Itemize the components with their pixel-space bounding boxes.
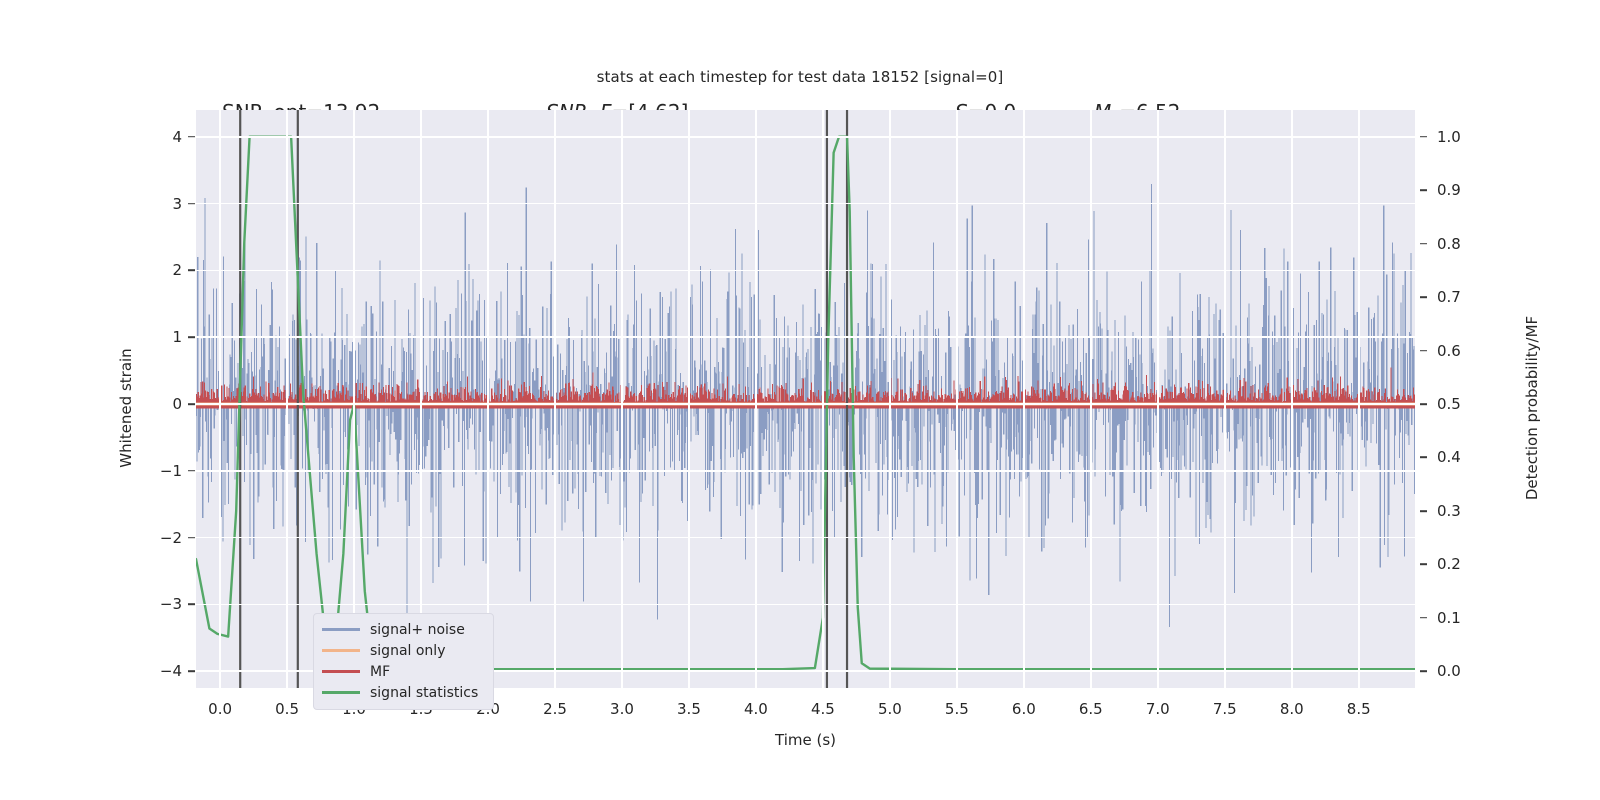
- y-tick-mark-right: [1420, 243, 1427, 245]
- gridline-horizontal: [196, 336, 1415, 338]
- x-tick-label: 3.5: [659, 700, 719, 718]
- x-tick-label: 3.0: [592, 700, 652, 718]
- y-tick-label-left: 1: [140, 328, 182, 346]
- x-tick-label: 5.5: [927, 700, 987, 718]
- gridline-horizontal: [196, 270, 1415, 272]
- y-tick-mark-left: [188, 336, 195, 338]
- y-tick-mark-left: [188, 604, 195, 606]
- y-tick-mark-left: [188, 537, 195, 539]
- y-axis-label-right: Detection probability/MF: [1523, 228, 1541, 588]
- gridline-vertical: [286, 110, 288, 688]
- x-tick-label: 4.0: [726, 700, 786, 718]
- legend-label-signal-only: signal only: [370, 643, 445, 659]
- gridline-vertical: [1090, 110, 1092, 688]
- gridline-vertical: [1023, 110, 1025, 688]
- y-tick-label-left: 0: [140, 395, 182, 413]
- gridline-vertical: [487, 110, 489, 688]
- legend-swatch-signal-statistics: [322, 691, 360, 693]
- y-tick-mark-left: [188, 670, 195, 672]
- y-tick-label-left: 2: [140, 261, 182, 279]
- gridline-vertical: [420, 110, 422, 688]
- legend-item-signal-statistics[interactable]: signal statistics: [322, 682, 485, 703]
- y-tick-label-right: 0.4: [1437, 448, 1479, 466]
- x-tick-label: 8.0: [1262, 700, 1322, 718]
- page-title: stats at each timestep for test data 181…: [0, 68, 1600, 86]
- gridline-vertical: [755, 110, 757, 688]
- y-tick-label-right: 0.5: [1437, 395, 1479, 413]
- gridline-vertical: [688, 110, 690, 688]
- x-tick-label: 0.0: [190, 700, 250, 718]
- y-tick-mark-right: [1420, 617, 1427, 619]
- y-tick-label-left: −3: [140, 595, 182, 613]
- gridline-vertical: [554, 110, 556, 688]
- gridline-vertical: [889, 110, 891, 688]
- legend-item-signal-only[interactable]: signal only: [322, 640, 485, 661]
- y-tick-label-left: 4: [140, 128, 182, 146]
- gridline-vertical: [822, 110, 824, 688]
- y-tick-label-right: 0.3: [1437, 502, 1479, 520]
- y-tick-label-left: −2: [140, 529, 182, 547]
- legend-swatch-signal-noise: [322, 628, 360, 630]
- y-tick-mark-left: [188, 470, 195, 472]
- gridline-vertical: [219, 110, 221, 688]
- legend-item-mf[interactable]: MF: [322, 661, 485, 682]
- gridline-vertical: [1157, 110, 1159, 688]
- gridline-horizontal: [196, 136, 1415, 138]
- y-tick-label-right: 1.0: [1437, 128, 1479, 146]
- y-tick-mark-right: [1420, 564, 1427, 566]
- y-tick-mark-left: [188, 136, 195, 138]
- y-tick-mark-left: [188, 403, 195, 405]
- y-tick-mark-right: [1420, 189, 1427, 191]
- y-tick-label-left: −4: [140, 662, 182, 680]
- y-tick-mark-right: [1420, 296, 1427, 298]
- x-axis-label: Time (s): [196, 731, 1415, 749]
- legend-swatch-mf: [322, 670, 360, 672]
- legend-swatch-signal-only: [322, 649, 360, 651]
- x-tick-label: 4.5: [793, 700, 853, 718]
- y-tick-mark-right: [1420, 403, 1427, 405]
- x-tick-label: 8.5: [1329, 700, 1389, 718]
- y-tick-label-right: 0.7: [1437, 288, 1479, 306]
- x-tick-label: 6.0: [994, 700, 1054, 718]
- y-tick-label-right: 0.6: [1437, 342, 1479, 360]
- y-tick-label-right: 0.9: [1437, 181, 1479, 199]
- y-tick-label-left: −1: [140, 462, 182, 480]
- gridline-vertical: [353, 110, 355, 688]
- gridline-vertical: [1291, 110, 1293, 688]
- legend-item-signal-noise[interactable]: signal+ noise: [322, 619, 485, 640]
- x-tick-label: 7.0: [1128, 700, 1188, 718]
- y-tick-mark-left: [188, 203, 195, 205]
- x-tick-label: 2.5: [525, 700, 585, 718]
- legend[interactable]: signal+ noise signal only MF signal stat…: [313, 613, 494, 710]
- y-tick-label-right: 0.0: [1437, 662, 1479, 680]
- y-tick-label-right: 0.1: [1437, 609, 1479, 627]
- y-tick-label-left: 3: [140, 195, 182, 213]
- y-tick-mark-right: [1420, 457, 1427, 459]
- matplotlib-figure: stats at each timestep for test data 181…: [0, 0, 1600, 800]
- gridline-vertical: [956, 110, 958, 688]
- x-tick-label: 0.5: [257, 700, 317, 718]
- x-tick-label: 6.5: [1061, 700, 1121, 718]
- plot-area: [196, 110, 1415, 688]
- y-tick-mark-right: [1420, 136, 1427, 138]
- gridline-vertical: [1224, 110, 1226, 688]
- data-layer: [196, 110, 1415, 688]
- legend-label-mf: MF: [370, 664, 390, 680]
- gridline-vertical: [1358, 110, 1360, 688]
- y-tick-mark-right: [1420, 350, 1427, 352]
- x-tick-label: 7.5: [1195, 700, 1255, 718]
- gridline-horizontal: [196, 470, 1415, 472]
- y-axis-label-left: Whitened strain: [117, 258, 135, 558]
- legend-label-signal-noise: signal+ noise: [370, 622, 465, 638]
- gridline-horizontal: [196, 403, 1415, 405]
- y-tick-label-right: 0.8: [1437, 235, 1479, 253]
- y-tick-mark-left: [188, 270, 195, 272]
- gridline-vertical: [621, 110, 623, 688]
- y-tick-label-right: 0.2: [1437, 555, 1479, 573]
- y-tick-mark-right: [1420, 510, 1427, 512]
- gridline-horizontal: [196, 537, 1415, 539]
- gridline-horizontal: [196, 203, 1415, 205]
- gridline-horizontal: [196, 604, 1415, 606]
- legend-label-signal-statistics: signal statistics: [370, 685, 478, 701]
- y-tick-mark-right: [1420, 670, 1427, 672]
- x-tick-label: 5.0: [860, 700, 920, 718]
